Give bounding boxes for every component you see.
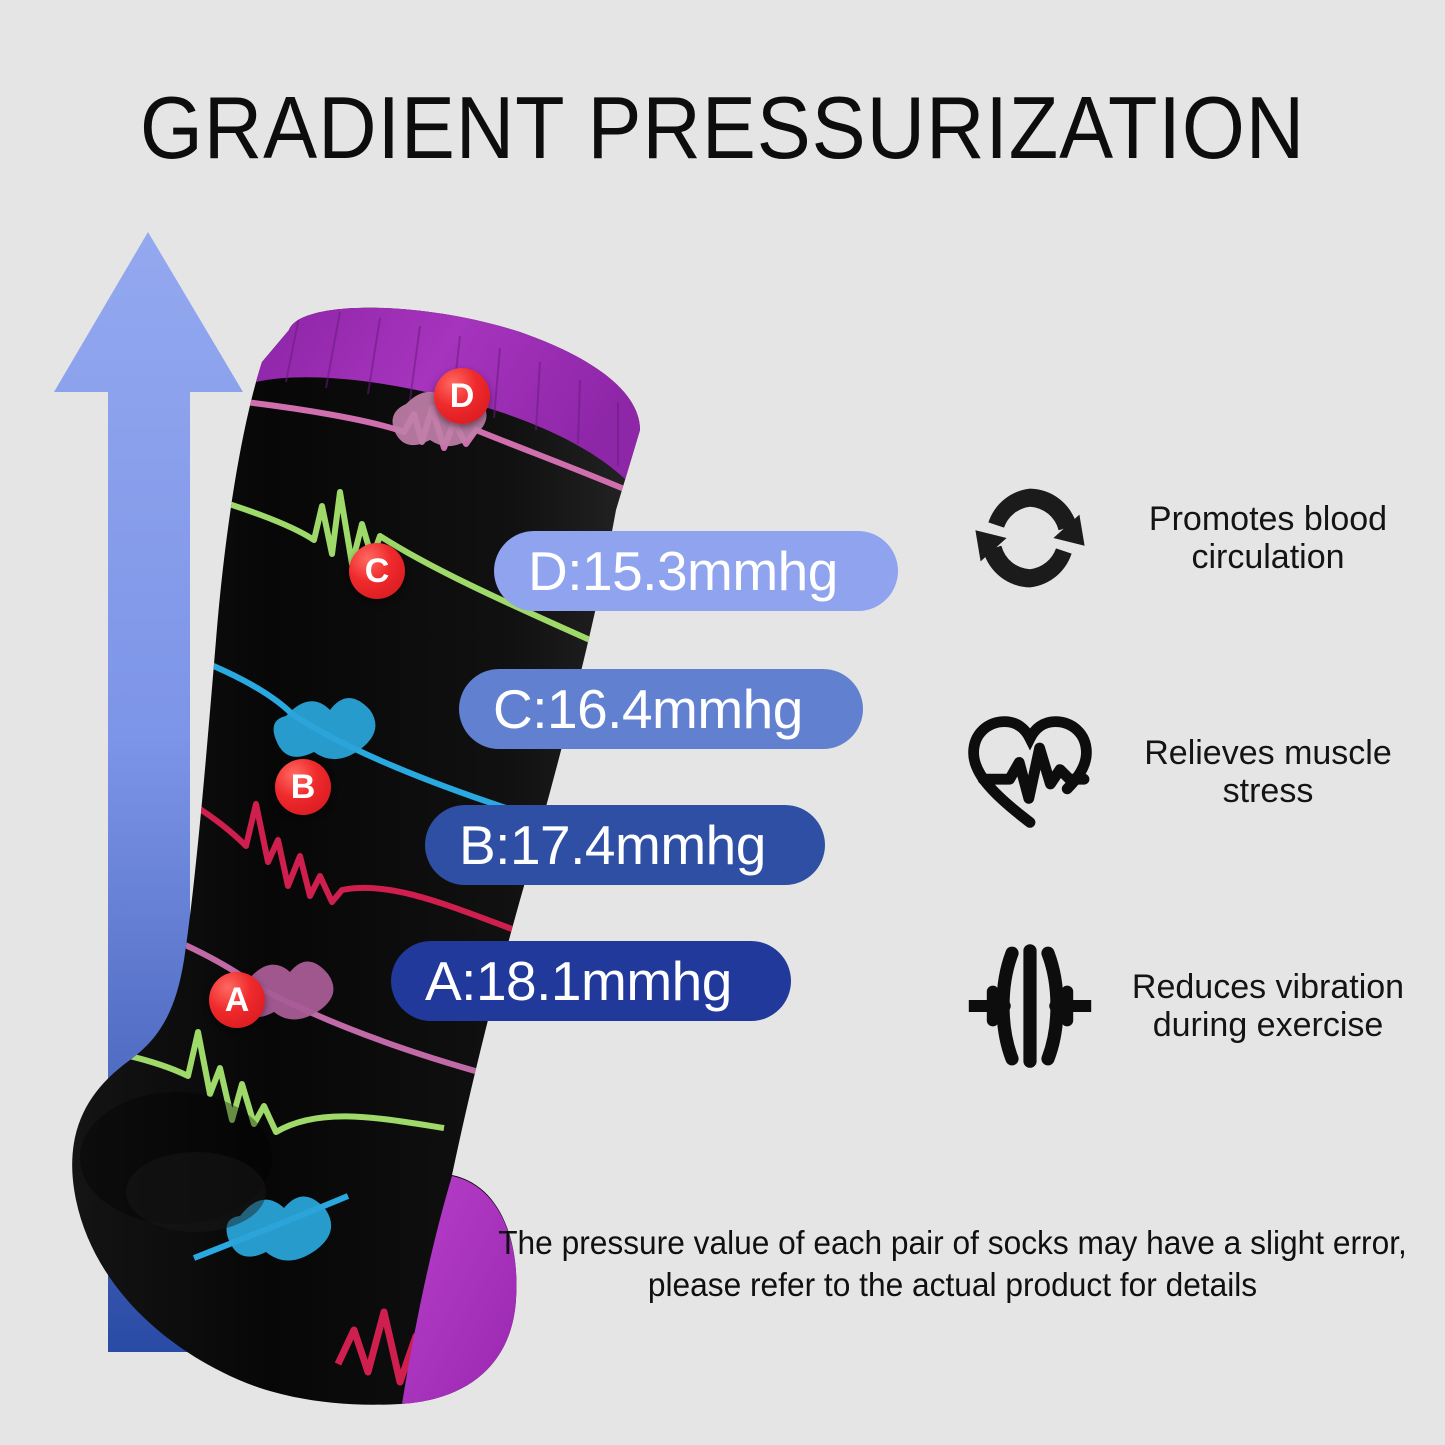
feature-line1-muscle: Relieves muscle (1106, 734, 1430, 772)
feature-line1-vibration: Reduces vibration (1106, 968, 1430, 1006)
zone-marker-label-b: B (291, 768, 316, 807)
page-title: GRADIENT PRESSURIZATION (58, 84, 1387, 172)
feature-line2-vibration: during exercise (1106, 1006, 1430, 1044)
pressure-label-b: B:17.4mmhg (459, 813, 766, 877)
zone-marker-label-d: D (450, 377, 475, 416)
feature-line1-circulation: Promotes blood (1106, 500, 1430, 538)
pattern-ekg-crimson-toe (338, 1312, 478, 1382)
heart-pulse-icon (960, 712, 1100, 832)
pressure-label-c: C:16.4mmhg (493, 677, 803, 741)
feature-item-muscle: Relieves muscle stress (960, 696, 1430, 848)
pressure-pill-d[interactable]: D:15.3mmhg (494, 531, 898, 611)
feature-text-circulation: Promotes blood circulation (1100, 500, 1430, 576)
upward-gradient-arrow (54, 232, 243, 1352)
zone-marker-a[interactable]: A (209, 972, 265, 1028)
circular-arrows-icon (960, 473, 1100, 603)
feature-item-vibration: Reduces vibration during exercise (960, 930, 1430, 1082)
pressure-pill-c[interactable]: C:16.4mmhg (459, 669, 863, 749)
feature-text-vibration: Reduces vibration during exercise (1100, 968, 1430, 1044)
disclaimer-text: The pressure value of each pair of socks… (489, 1222, 1415, 1306)
compression-arrows-icon (960, 943, 1100, 1069)
infographic-root: GRADIENT PRESSURIZATION (0, 0, 1445, 1445)
feature-list: Promotes blood circulation Relieves musc… (960, 462, 1430, 1164)
feature-item-circulation: Promotes blood circulation (960, 462, 1430, 614)
feature-line2-circulation: circulation (1106, 538, 1430, 576)
zone-marker-b[interactable]: B (275, 759, 331, 815)
pressure-label-d: D:15.3mmhg (528, 539, 838, 603)
pattern-line-green-lower (112, 1032, 444, 1132)
pattern-heart-cyan-foot (194, 1196, 348, 1261)
zone-marker-c[interactable]: C (349, 543, 405, 599)
zone-marker-label-a: A (225, 981, 250, 1020)
pressure-label-a: A:18.1mmhg (425, 949, 732, 1013)
pressure-pill-a[interactable]: A:18.1mmhg (391, 941, 791, 1021)
feature-text-muscle: Relieves muscle stress (1100, 734, 1430, 810)
feature-line2-muscle: stress (1106, 772, 1430, 810)
zone-marker-d[interactable]: D (434, 368, 490, 424)
pattern-line-pink-d (228, 390, 636, 494)
zone-marker-label-c: C (365, 552, 390, 591)
pressure-pill-b[interactable]: B:17.4mmhg (425, 805, 825, 885)
